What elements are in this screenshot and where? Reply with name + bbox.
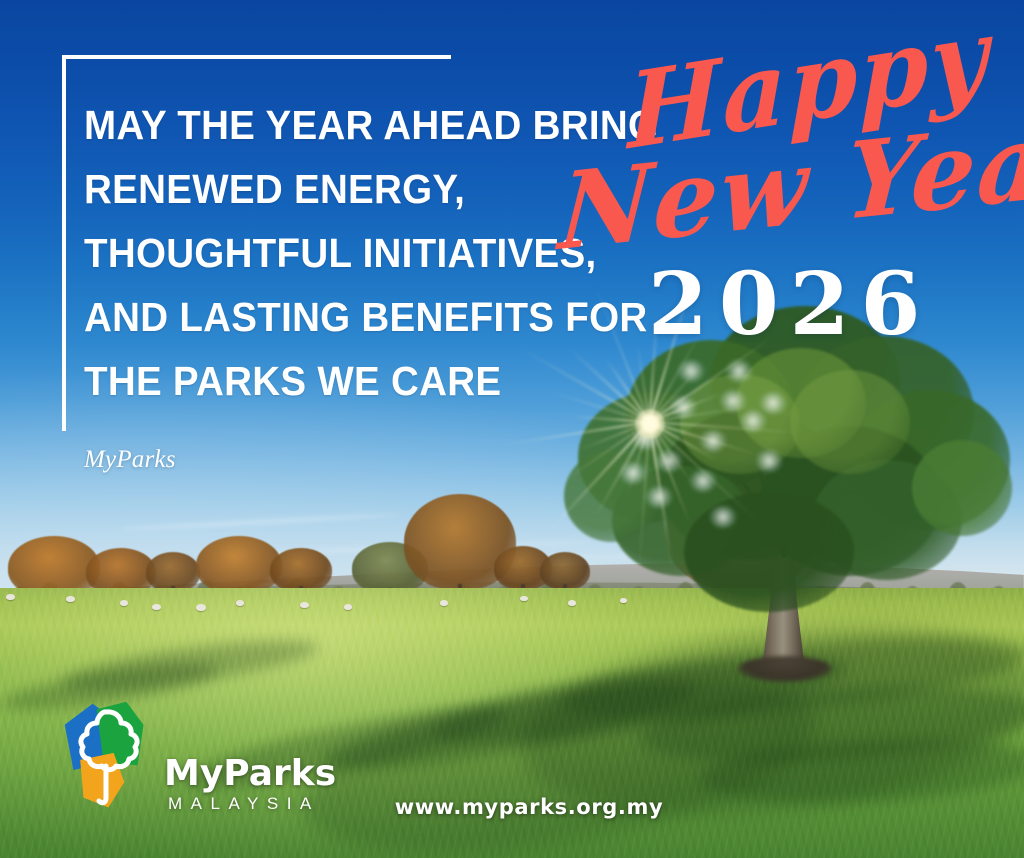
new-year-poster: MAY THE YEAR AHEAD BRING RENEWED ENERGY,… — [0, 0, 1024, 858]
canopy-blob — [684, 492, 854, 612]
year-label: 2026 — [648, 262, 931, 348]
sunburst-icon — [648, 422, 652, 426]
page-title: MAY THE YEAR AHEAD BRING RENEWED ENERGY,… — [84, 93, 573, 413]
sheep — [6, 594, 15, 600]
sheep — [300, 602, 309, 608]
canopy-highlight — [756, 450, 782, 472]
headline-line-4: AND LASTING BENEFITS FOR — [84, 285, 573, 349]
website-url[interactable]: www.myparks.org.my — [0, 795, 1024, 819]
canopy-highlight — [760, 392, 786, 414]
tree-root-base — [738, 656, 832, 682]
sheep — [152, 604, 161, 610]
autumn-tree — [196, 536, 282, 594]
sheep — [344, 604, 352, 610]
oak-tree — [560, 300, 1024, 690]
sheep — [66, 596, 75, 602]
headline-line-2: RENEWED ENERGY, — [84, 157, 573, 221]
canopy-blob — [790, 370, 910, 474]
logo-wordmark: MyParks — [164, 756, 336, 792]
sheep — [520, 596, 528, 601]
sheep — [120, 600, 128, 606]
headline-line-1: MAY THE YEAR AHEAD BRING — [84, 93, 573, 157]
myparks-tree-pentagon-icon — [62, 700, 158, 810]
website-url-text: www.myparks.org.my — [361, 795, 664, 819]
sheep — [236, 600, 244, 606]
headline-line-5: THE PARKS WE CARE — [84, 349, 573, 413]
sheep — [440, 600, 448, 606]
canopy-blob — [912, 440, 1012, 536]
headline-line-3: THOUGHTFUL INITIATIVES, — [84, 221, 573, 285]
canopy-highlight — [710, 506, 736, 528]
sheep — [196, 604, 206, 611]
signature-text: MyParks — [84, 446, 176, 474]
